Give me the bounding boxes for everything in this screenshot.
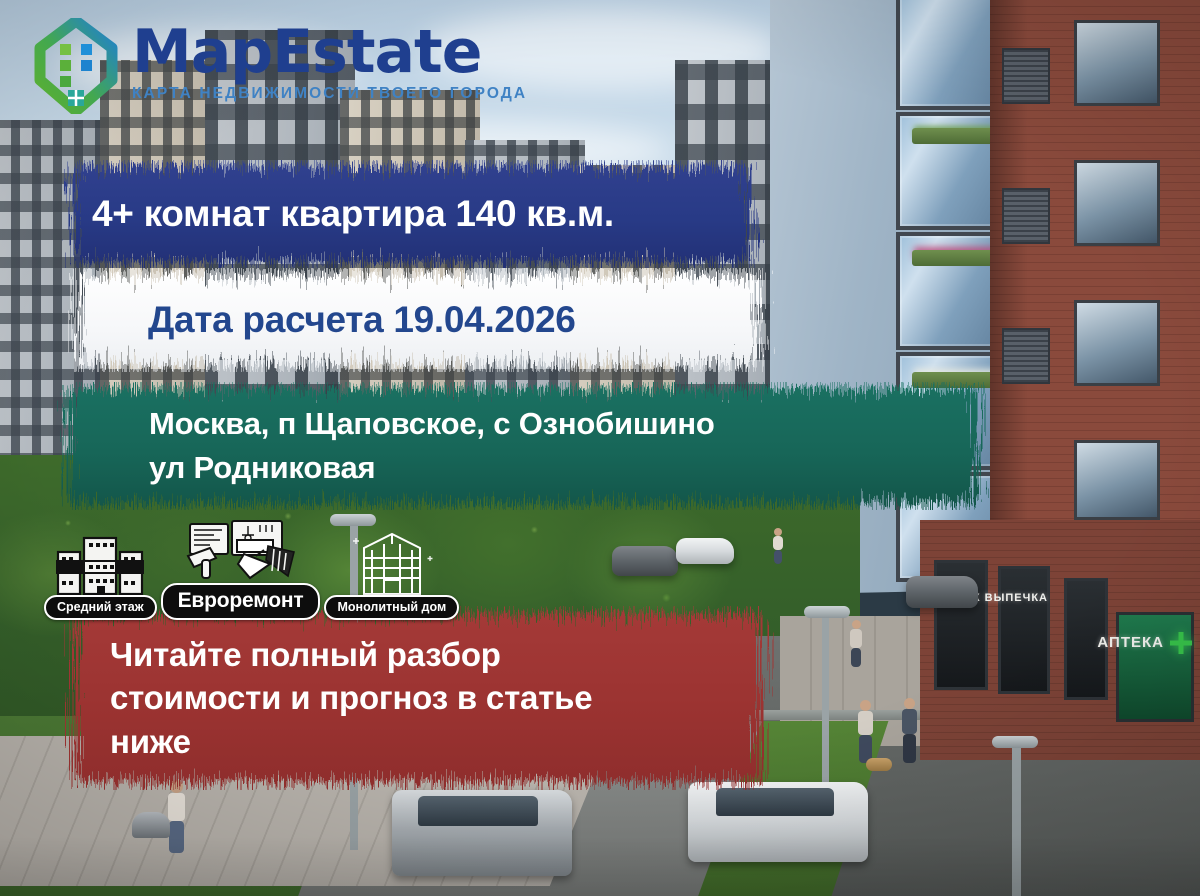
brick-balcony xyxy=(1002,188,1050,244)
brick-balcony xyxy=(1002,48,1050,104)
person-legs xyxy=(169,821,184,853)
map-pin-house-icon xyxy=(34,18,118,114)
feature-badge-mid-floor: Средний этаж xyxy=(44,534,157,620)
address-line-2: ул Родниковая xyxy=(149,446,715,490)
parked-car xyxy=(676,538,734,564)
pedestrian xyxy=(852,700,878,766)
person-legs xyxy=(851,648,861,667)
brand-tagline: КАРТА НЕДВИЖИМОСТИ ТВОЕГО ГОРОДА xyxy=(132,85,527,103)
feature-badge-label: Монолитный дом xyxy=(324,595,459,620)
renovation-tools-icon xyxy=(182,516,300,589)
person-head xyxy=(904,698,915,709)
car-windshield xyxy=(716,788,834,816)
person-torso xyxy=(850,629,862,648)
brick-balcony xyxy=(1002,328,1050,384)
cta-line-2: стоимости и прогноз в статье xyxy=(110,676,592,720)
brand-name: MapEstate xyxy=(132,24,527,81)
street-lamp-head xyxy=(992,736,1038,748)
pharmacy-cross-icon xyxy=(1170,632,1192,654)
brick-window xyxy=(1074,160,1160,246)
street-lamp-post xyxy=(1012,742,1021,896)
shop-window xyxy=(998,566,1050,694)
address-banner-text: Москва, п Щаповское, с Ознобишино ул Род… xyxy=(44,402,715,490)
cta-banner-text: Читайте полный разбор стоимости и прогно… xyxy=(48,633,592,764)
street-lamp-head xyxy=(804,606,850,618)
dog xyxy=(866,758,892,771)
stroller xyxy=(132,812,170,838)
person-head xyxy=(852,620,861,629)
feature-badge-label: Средний этаж xyxy=(44,595,157,620)
date-banner: Дата расчета 19.04.2026 xyxy=(48,268,790,372)
parked-car xyxy=(612,546,678,576)
pharmacy-sign-text: АПТЕКА xyxy=(1097,634,1164,651)
brick-window xyxy=(1074,440,1160,520)
pedestrian xyxy=(846,620,866,668)
pharmacy-window xyxy=(1116,612,1194,722)
cta-line-1: Читайте полный разбор xyxy=(110,633,592,677)
brand-logo[interactable]: MapEstate КАРТА НЕДВИЖИМОСТИ ТВОЕГО ГОРО… xyxy=(34,18,527,114)
person-legs xyxy=(774,550,782,564)
cta-banner[interactable]: Читайте полный разбор стоимости и прогно… xyxy=(48,606,788,790)
pedestrian xyxy=(770,528,786,564)
parked-car xyxy=(906,576,978,608)
mid-floor-building-icon xyxy=(54,534,146,601)
address-line-1: Москва, п Щаповское, с Ознобишино xyxy=(149,402,715,446)
person-head xyxy=(774,528,782,536)
feature-badges: Средний этаж xyxy=(44,516,459,620)
address-banner: Москва, п Щаповское, с Ознобишино ул Род… xyxy=(44,382,1004,510)
brand-wordmark: MapEstate КАРТА НЕДВИЖИМОСТИ ТВОЕГО ГОРО… xyxy=(132,18,527,103)
property-banner-text: 4+ комнат квартира 140 кв.м. xyxy=(48,193,614,235)
car-windshield xyxy=(418,796,538,826)
property-banner: 4+ комнат квартира 140 кв.м. xyxy=(48,160,788,268)
person-torso xyxy=(773,536,783,550)
feature-badge-renovation: Евроремонт xyxy=(161,516,321,620)
car-foreground-grey xyxy=(392,790,572,876)
person-torso xyxy=(902,709,917,734)
street-lamp-post xyxy=(822,612,829,802)
person-torso xyxy=(858,711,873,735)
monolithic-building-icon xyxy=(342,530,442,601)
pedestrian xyxy=(896,698,922,766)
person-torso xyxy=(168,793,185,821)
brick-window xyxy=(1074,300,1160,386)
car-foreground-white xyxy=(688,782,868,862)
person-head xyxy=(860,700,871,711)
date-banner-text: Дата расчета 19.04.2026 xyxy=(48,299,576,341)
brick-window xyxy=(1074,20,1160,106)
promo-card: ЮНЕК ВЫПЕЧКА АПТЕКА xyxy=(0,0,1200,896)
feature-badge-monolithic: Монолитный дом xyxy=(324,530,459,620)
person-legs xyxy=(903,734,916,763)
cta-line-3: ниже xyxy=(110,720,592,764)
feature-badge-label: Евроремонт xyxy=(161,583,321,620)
